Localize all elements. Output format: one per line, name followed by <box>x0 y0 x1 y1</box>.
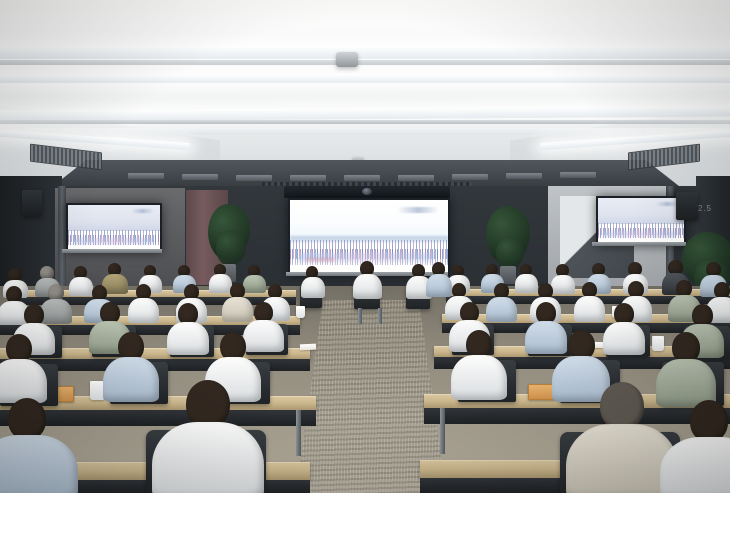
ceiling-slot-1 <box>128 173 164 179</box>
plant-foliage <box>496 236 524 270</box>
attendee-torso <box>40 299 72 324</box>
screenshot-root: 2.5 <box>0 0 730 548</box>
attendee-torso <box>301 277 325 298</box>
attendee-torso <box>209 274 232 293</box>
handout-paper <box>300 344 316 351</box>
attendee-torso <box>167 322 209 355</box>
attendee-head <box>690 400 728 442</box>
attendee-torso <box>128 298 159 323</box>
ceiling-slot-3 <box>236 175 272 181</box>
left-screen-content <box>68 205 160 251</box>
left-screen-caption <box>131 209 155 213</box>
left-screen-river <box>73 238 154 244</box>
screen-caption-text <box>397 207 438 214</box>
ceiling-slot-7 <box>452 174 488 180</box>
ceiling-light-strip-2 <box>0 74 730 83</box>
right-screen-content <box>598 198 684 244</box>
left-screen-base <box>62 249 162 253</box>
ceiling-slot-5 <box>344 175 380 181</box>
attendee-torso <box>574 296 605 322</box>
attendee-torso <box>603 322 645 355</box>
wall-speaker-left <box>22 190 42 216</box>
attendee-head <box>600 382 644 430</box>
ceiling-slot-8 <box>506 173 542 179</box>
attendee-torso <box>222 297 253 322</box>
ceiling-slot-6 <box>398 175 434 181</box>
wall-speaker-right <box>676 192 698 220</box>
wall-column-left <box>58 186 66 296</box>
plant-left-stage <box>206 204 252 284</box>
bottom-letterbox <box>0 493 730 548</box>
attendee-torso <box>515 274 538 293</box>
ceiling-light-strip-1 <box>0 46 730 59</box>
desk-leg <box>296 410 301 456</box>
side-display-left[interactable] <box>66 203 162 253</box>
ceiling-slot-4 <box>290 175 326 181</box>
desk-front <box>424 408 730 424</box>
side-display-right[interactable] <box>596 196 686 246</box>
plant-foliage <box>216 230 246 266</box>
right-screen-base <box>592 242 686 246</box>
desk-leg <box>440 408 445 454</box>
attendee-head <box>8 398 46 440</box>
camera-icon <box>362 188 372 195</box>
attendee-torso <box>243 275 266 293</box>
attendee-torso <box>426 274 452 297</box>
ceiling-slot-2 <box>182 174 218 180</box>
chair-leg <box>358 308 362 324</box>
attendee-torso <box>243 320 284 352</box>
ceiling-rail-1 <box>0 60 730 65</box>
chair-leg <box>378 308 382 324</box>
desk-front <box>0 410 316 426</box>
cup <box>296 306 305 318</box>
attendee-torso <box>0 359 47 403</box>
attendee-torso <box>103 357 159 402</box>
attendee-torso <box>486 297 517 322</box>
cup <box>652 336 664 351</box>
ceiling-slot-9 <box>560 172 596 178</box>
ceiling-speaker-icon <box>336 52 358 67</box>
wall-number-label: 2.5 <box>698 204 712 213</box>
right-screen-river <box>602 231 677 237</box>
attendee-torso <box>69 277 93 296</box>
attendee-torso <box>451 355 507 400</box>
attendee-torso <box>353 274 382 299</box>
ceiling-rail-2 <box>0 120 730 124</box>
ceiling-light-strip-4 <box>0 128 730 135</box>
attendee-head <box>186 380 230 428</box>
conference-room-photo: 2.5 <box>0 0 730 493</box>
attendee-torso <box>525 321 567 354</box>
attendee-torso <box>152 422 264 493</box>
attendee-torso <box>551 275 575 294</box>
